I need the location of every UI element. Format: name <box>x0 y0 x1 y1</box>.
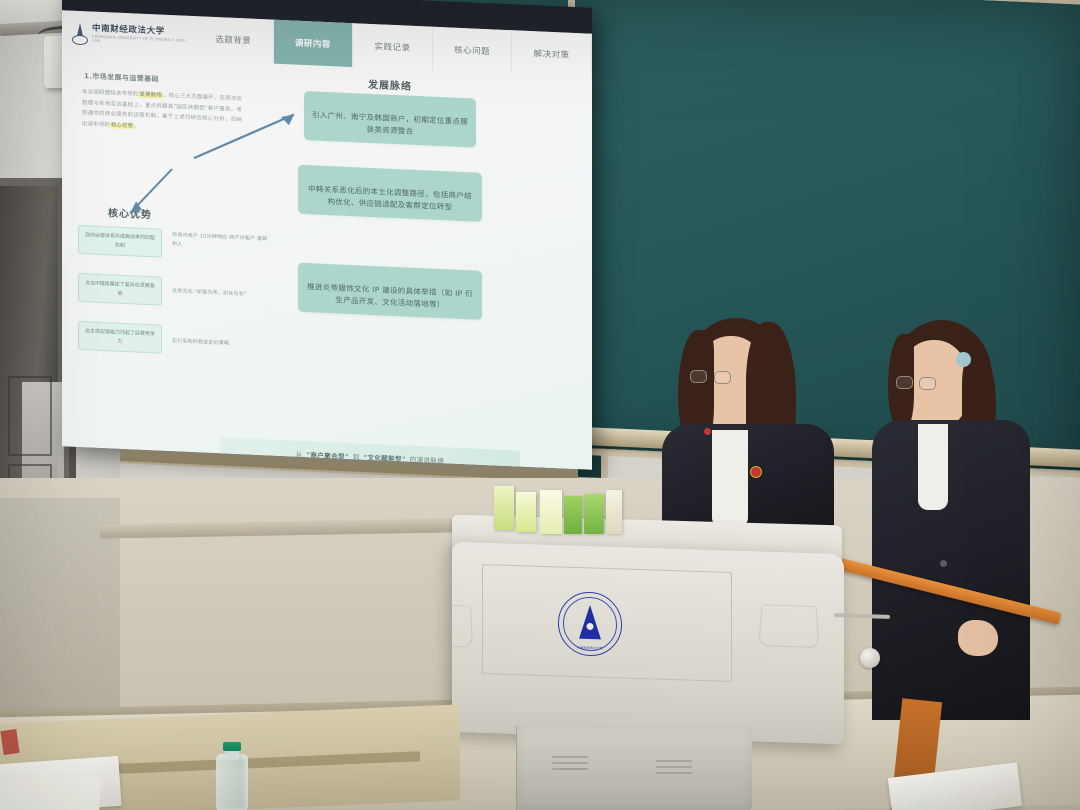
tab-core-problem[interactable]: 核心问题 <box>433 27 513 75</box>
advantage-note-2: 炎帝文化 "织裳为布、织丝为衣" <box>172 287 272 300</box>
timeline-card-1: 引入广州、南宁及韩国商户，初期定位重点服装类资源整合 <box>304 91 476 147</box>
slide-content: 1.市场发展与运营基础 本次调研围绕该市场的发展脉络、核心三大方面展开，在其访谈… <box>62 54 592 470</box>
bottle-cap <box>223 742 241 751</box>
shirt-right <box>918 424 948 510</box>
product-box-2 <box>516 492 536 532</box>
podium-cabinet <box>516 726 752 810</box>
left-section-heading: 1.市场发展与运营基础 <box>84 71 159 84</box>
product-box-5 <box>584 494 604 534</box>
door-panel-upper <box>8 376 52 456</box>
papers-left-secondary <box>0 771 101 810</box>
advantage-box-1: 双向运营体系形成高效率的匹配机制 <box>78 225 162 258</box>
podium-crest-icon: 中南财经政法大学 <box>558 591 622 657</box>
hand-right <box>958 620 998 656</box>
glasses-right <box>896 376 964 392</box>
classroom-scene: 中南财经政法大学 ZHONGNAN UNIVERSITY OF ECONOMIC… <box>0 0 1080 810</box>
lapel-pin-left <box>750 466 762 478</box>
red-book-edge <box>0 729 19 755</box>
hair-tie-right <box>956 352 971 367</box>
torso-right <box>872 420 1030 720</box>
podium-knob[interactable] <box>860 648 880 668</box>
arrow-down-icon <box>120 165 180 226</box>
tab-solutions[interactable]: 解决对策 <box>512 30 592 78</box>
university-crest-icon <box>71 23 87 44</box>
button-right <box>940 560 947 567</box>
tab-practice-record[interactable]: 实践记录 <box>353 23 433 71</box>
product-box-3 <box>540 490 562 534</box>
blackboard-right <box>568 0 1080 478</box>
collar-pin-left <box>704 428 711 435</box>
timeline-card-3: 推进炎帝服饰文化 IP 建设的具体举措（如 IP 衍生产品开发、文化活动落地等） <box>298 263 482 320</box>
development-timeline: 发展脉络 2012年 引入广州、南宁及韩国商户，初期定位重点服装类资源整合 20… <box>290 70 490 79</box>
advantage-box-3: 自主供应链能力托起了经营竞争力 <box>78 321 162 354</box>
product-box-6 <box>606 490 622 534</box>
water-bottle[interactable] <box>216 742 248 810</box>
tab-topic-background[interactable]: 选题背景 <box>194 16 274 64</box>
advantage-note-3: 实行采购的稳定定价策略 <box>172 337 272 350</box>
podium-basket-left <box>437 605 473 648</box>
tab-research-content[interactable]: 调研内容 <box>274 20 354 68</box>
podium-basket-right <box>758 604 819 648</box>
product-box-1 <box>494 486 514 530</box>
bottle-body <box>216 754 248 810</box>
arrow-up-icon <box>190 100 308 167</box>
glasses-left <box>690 370 760 386</box>
university-logo: 中南财经政法大学 ZHONGNAN UNIVERSITY OF ECONOMIC… <box>62 10 194 60</box>
presentation-slide: 中南财经政法大学 ZHONGNAN UNIVERSITY OF ECONOMIC… <box>62 10 592 470</box>
projection-screen: 中南财经政法大学 ZHONGNAN UNIVERSITY OF ECONOMIC… <box>62 0 592 470</box>
timeline-card-2: 中韩关系恶化后的本土化调整路径，包括商户结构优化、供应链适配及客群定位转型 <box>298 165 482 222</box>
door[interactable] <box>0 186 58 519</box>
advantage-note-1: 市场对商户 10分钟响应 商户对客户 直邮到人 <box>172 231 272 253</box>
advantage-box-2: 文化IP提炼奠定了差异化发展基础 <box>78 273 162 306</box>
product-box-4 <box>564 496 582 534</box>
shirt-left <box>712 430 748 526</box>
